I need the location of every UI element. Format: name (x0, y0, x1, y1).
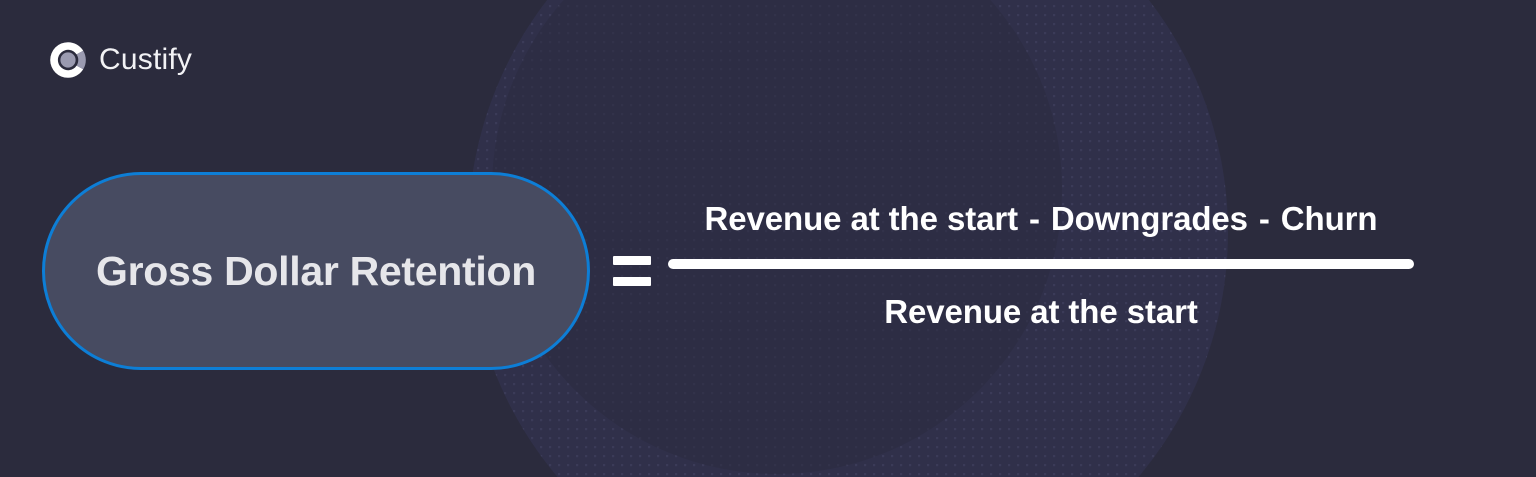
brand-name: Custify (99, 45, 192, 75)
numerator-operator-2: - (1248, 200, 1281, 238)
custify-c-mark-icon (48, 40, 88, 80)
metric-name-box: Gross Dollar Retention (42, 172, 590, 370)
infographic-canvas: Custify Gross Dollar Retention Revenue a… (0, 0, 1536, 477)
formula-fraction: Revenue at the start - Downgrades - Chur… (668, 192, 1414, 336)
brand-logo: Custify (48, 40, 192, 80)
fraction-denominator: Revenue at the start (668, 288, 1414, 336)
metric-name-label: Gross Dollar Retention (96, 248, 536, 295)
numerator-term-3: Churn (1281, 200, 1378, 238)
fraction-numerator: Revenue at the start - Downgrades - Chur… (668, 192, 1414, 246)
equals-bar-top (613, 256, 651, 265)
numerator-operator-1: - (1018, 200, 1051, 238)
numerator-term-2: Downgrades (1051, 200, 1248, 238)
fraction-divider-bar (668, 259, 1414, 269)
numerator-term-1: Revenue at the start (705, 200, 1018, 238)
equals-bar-bottom (613, 277, 651, 286)
equals-sign-icon (613, 256, 651, 286)
denominator-term-1: Revenue at the start (884, 293, 1197, 331)
